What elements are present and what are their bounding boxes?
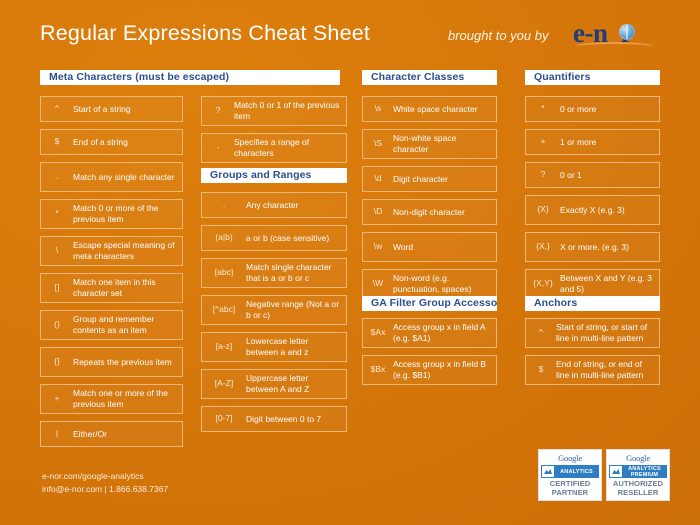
cell-description: Digit between 0 to 7 — [246, 414, 346, 425]
meta-characters-column-a: ^ Start of a string $ End of a string . … — [40, 96, 183, 454]
ga-filter-group-accessors-column: $Ax Access group x in field A (e.g. $A1)… — [362, 318, 497, 392]
analytics-chart-icon — [610, 466, 622, 477]
list-item[interactable]: * Match 0 or more of the previous item — [40, 199, 183, 229]
list-item[interactable]: () Group and remember contents as an ite… — [40, 310, 183, 340]
list-item[interactable]: \ Escape special meaning of meta charact… — [40, 236, 183, 266]
list-item[interactable]: \w Word — [362, 232, 497, 262]
cell-description: Match 0 or more of the previous item — [73, 203, 182, 224]
cell-description: Digit character — [393, 174, 496, 185]
cell-description: Negative range (Not a or b or c) — [246, 299, 346, 320]
quantifiers-column: * 0 or more + 1 or more ? 0 or 1 {X} Exa… — [525, 96, 660, 306]
badge-google-analytics-certified-partner[interactable]: Google ANALYTICS CERTIFIED PARTNER — [538, 449, 602, 501]
google-wordmark: Google — [609, 453, 667, 463]
cell-description: Escape special meaning of meta character… — [73, 240, 182, 261]
list-item[interactable]: {X,} X or more. (e.g. 3) — [525, 232, 660, 262]
cell-symbol: {X,Y} — [526, 279, 560, 289]
cell-description: 0 or more — [560, 104, 659, 115]
cell-symbol: [^abc] — [202, 305, 246, 315]
cell-symbol: ^ — [526, 328, 556, 338]
section-heading-groups-and-ranges: Groups and Ranges — [201, 168, 347, 183]
cell-description: Match one or more of the previous item — [73, 388, 182, 409]
cell-symbol: $ — [526, 365, 556, 375]
list-item[interactable]: [abc] Match single character that is a o… — [201, 258, 347, 288]
list-item[interactable]: [A-Z] Uppercase letter between A and Z — [201, 369, 347, 399]
list-item[interactable]: . Any character — [201, 192, 347, 218]
list-item[interactable]: {} Repeats the previous item — [40, 347, 183, 377]
anchors-column: ^ Start of string, or start of line in m… — [525, 318, 660, 392]
cell-description: Repeats the previous item — [73, 357, 182, 368]
list-item[interactable]: [] Match one item in this character set — [40, 273, 183, 303]
cell-symbol: () — [41, 320, 73, 330]
cell-symbol: {X,} — [526, 242, 560, 252]
google-wordmark: Google — [541, 453, 599, 463]
cell-symbol: (a|b) — [202, 233, 246, 243]
cell-description: Non-word (e.g. punctuation, spaces) — [393, 273, 496, 294]
partner-badges: Google ANALYTICS CERTIFIED PARTNER Googl… — [538, 449, 670, 501]
cell-description: White space character — [393, 104, 496, 115]
cell-description: End of string, or end of line in multi-l… — [556, 359, 659, 380]
footer-email-phone[interactable]: info@e-nor.com | 1.866.638.7367 — [42, 483, 168, 496]
cell-description: Start of a string — [73, 104, 182, 115]
section-heading-meta-characters: Meta Characters (must be escaped) — [40, 70, 340, 85]
list-item[interactable]: * 0 or more — [525, 96, 660, 122]
list-item[interactable]: $ End of a string — [40, 129, 183, 155]
cell-symbol: \s — [363, 104, 393, 114]
cell-symbol: \d — [363, 174, 393, 184]
list-item[interactable]: \S Non-white space character — [362, 129, 497, 159]
cell-description: Uppercase letter between A and Z — [246, 373, 346, 394]
cell-symbol: * — [526, 104, 560, 114]
footer-website-url[interactable]: e-nor.com/google-analytics — [42, 470, 168, 483]
cell-symbol: $Ax — [363, 328, 393, 338]
cell-symbol: ? — [202, 106, 234, 116]
list-item[interactable]: - Specifies a range of characters — [201, 133, 347, 163]
list-item[interactable]: [a-z] Lowercase letter between a and z — [201, 332, 347, 362]
badge-caption-line-2: RESELLER — [609, 489, 667, 498]
list-item[interactable]: ? 0 or 1 — [525, 162, 660, 188]
badge-google-analytics-premium-authorized-reseller[interactable]: Google ANALYTICS PREMIUM AUTHORIZED RESE… — [606, 449, 670, 501]
cell-description: Non-white space character — [393, 133, 496, 154]
list-item[interactable]: {X} Exactly X (e.g. 3) — [525, 195, 660, 225]
analytics-premium-band: ANALYTICS PREMIUM — [609, 465, 667, 478]
cell-description: Match 0 or 1 of the previous item — [234, 100, 346, 121]
character-classes-column: \s White space character \S Non-white sp… — [362, 96, 497, 306]
cell-symbol: + — [526, 137, 560, 147]
cell-description: Between X and Y (e.g. 3 and 5) — [560, 273, 659, 294]
cell-description: Exactly X (e.g. 3) — [560, 205, 659, 216]
cell-symbol: ^ — [41, 104, 73, 114]
cell-description: Lowercase letter between a and z — [246, 336, 346, 357]
groups-and-ranges-column: . Any character (a|b) a or b (case sensi… — [201, 192, 347, 439]
cell-description: Non-digit character — [393, 207, 496, 218]
list-item[interactable]: \W Non-word (e.g. punctuation, spaces) — [362, 269, 497, 299]
list-item[interactable]: + Match one or more of the previous item — [40, 384, 183, 414]
cell-symbol: [a-z] — [202, 342, 246, 352]
cell-description: a or b (case sensitive) — [246, 233, 346, 244]
cell-description: Match any single character — [73, 172, 182, 183]
cell-symbol: ? — [526, 170, 560, 180]
cell-description: Any character — [246, 200, 346, 211]
list-item[interactable]: . Match any single character — [40, 162, 183, 192]
cell-description: Match one item in this character set — [73, 277, 182, 298]
cell-symbol: [0-7] — [202, 414, 246, 424]
cell-description: Access group x in field A (e.g. $A1) — [393, 322, 496, 343]
list-item[interactable]: ^ Start of string, or start of line in m… — [525, 318, 660, 348]
cell-symbol: {X} — [526, 205, 560, 215]
cell-description: Word — [393, 242, 496, 253]
cell-symbol: \W — [363, 279, 393, 289]
cell-symbol: $ — [41, 137, 73, 147]
cell-description: 1 or more — [560, 137, 659, 148]
cell-symbol: + — [41, 394, 73, 404]
cell-symbol: . — [41, 172, 73, 182]
cell-description: Match single character that is a or b or… — [246, 262, 346, 283]
list-item[interactable]: [^abc] Negative range (Not a or b or c) — [201, 295, 347, 325]
analytics-band-label: ANALYTICS — [622, 466, 667, 472]
cell-symbol: $Bx — [363, 365, 393, 375]
list-item[interactable]: {X,Y} Between X and Y (e.g. 3 and 5) — [525, 269, 660, 299]
cell-description: Group and remember contents as an item — [73, 314, 182, 335]
section-heading-character-classes: Character Classes — [362, 70, 497, 85]
cell-symbol: [abc] — [202, 268, 246, 278]
cell-symbol: \w — [363, 242, 393, 252]
list-item[interactable]: ^ Start of a string — [40, 96, 183, 122]
footer-contact-info: e-nor.com/google-analytics info@e-nor.co… — [42, 470, 168, 496]
section-heading-quantifiers: Quantifiers — [525, 70, 660, 85]
list-item[interactable]: $ End of string, or end of line in multi… — [525, 355, 660, 385]
section-heading-anchors: Anchors — [525, 296, 660, 311]
cell-symbol: \ — [41, 246, 73, 256]
cell-symbol: {} — [41, 357, 73, 367]
badge-caption-line-2: PARTNER — [541, 489, 599, 498]
cell-symbol: * — [41, 209, 73, 219]
cell-description: Access group x in field B (e.g. $B1) — [393, 359, 496, 380]
list-item[interactable]: ? Match 0 or 1 of the previous item — [201, 96, 347, 126]
cell-description: Start of string, or start of line in mul… — [556, 322, 659, 343]
list-item[interactable]: \s White space character — [362, 96, 497, 122]
list-item[interactable]: [0-7] Digit between 0 to 7 — [201, 406, 347, 432]
cell-symbol: - — [202, 143, 234, 153]
cell-description: Specifies a range of characters — [234, 137, 346, 158]
analytics-band-label: ANALYTICS — [554, 469, 599, 475]
cell-symbol: \S — [363, 139, 393, 149]
analytics-chart-icon — [542, 466, 554, 477]
cheatsheet-board: Meta Characters (must be escaped) ^ Star… — [0, 0, 700, 430]
list-item[interactable]: + 1 or more — [525, 129, 660, 155]
list-item[interactable]: \D Non-digit character — [362, 199, 497, 225]
meta-characters-column-b: ? Match 0 or 1 of the previous item - Sp… — [201, 96, 347, 170]
cell-symbol: [] — [41, 283, 73, 293]
list-item[interactable]: (a|b) a or b (case sensitive) — [201, 225, 347, 251]
section-heading-ga-filter-group-accessors: GA Filter Group Accessors — [362, 296, 497, 311]
list-item[interactable]: $Ax Access group x in field A (e.g. $A1) — [362, 318, 497, 348]
analytics-premium-label: PREMIUM — [622, 472, 667, 478]
list-item[interactable]: $Bx Access group x in field B (e.g. $B1) — [362, 355, 497, 385]
cell-description: 0 or 1 — [560, 170, 659, 181]
cell-symbol: . — [202, 200, 246, 210]
cell-symbol: \D — [363, 207, 393, 217]
cell-symbol: [A-Z] — [202, 379, 246, 389]
cell-description: X or more. (e.g. 3) — [560, 242, 659, 253]
cell-description: End of a string — [73, 137, 182, 148]
list-item[interactable]: \d Digit character — [362, 166, 497, 192]
analytics-band: ANALYTICS — [541, 465, 599, 478]
